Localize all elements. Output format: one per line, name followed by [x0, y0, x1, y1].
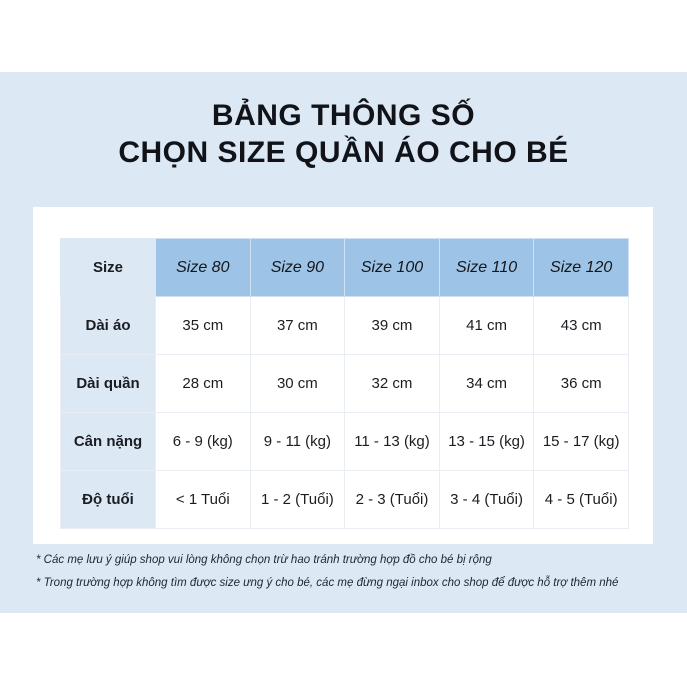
row-label-can-nang: Cân nặng: [61, 413, 156, 471]
cell-do-tuoi-size-120: 4 - 5 (Tuổi): [534, 471, 629, 529]
cell-can-nang-size-120: 15 - 17 (kg): [534, 413, 629, 471]
cell-dai-ao-size-120: 43 cm: [534, 297, 629, 355]
table-wrapper: Size Size 80 Size 90 Size 100 Size 110 S…: [60, 238, 628, 529]
cell-dai-ao-size-110: 41 cm: [439, 297, 534, 355]
footnotes: * Các mẹ lưu ý giúp shop vui lòng không …: [36, 554, 656, 600]
column-header-size-100: Size 100: [345, 239, 440, 297]
cell-do-tuoi-size-80: < 1 Tuổi: [156, 471, 251, 529]
cell-do-tuoi-size-100: 2 - 3 (Tuổi): [345, 471, 440, 529]
page-title: BẢNG THÔNG SỐ CHỌN SIZE QUẦN ÁO CHO BÉ: [0, 98, 687, 171]
table-card: Size Size 80 Size 90 Size 100 Size 110 S…: [33, 207, 653, 544]
cell-dai-quan-size-110: 34 cm: [439, 355, 534, 413]
column-header-size-110: Size 110: [439, 239, 534, 297]
size-chart-page: BẢNG THÔNG SỐ CHỌN SIZE QUẦN ÁO CHO BÉ S…: [0, 0, 687, 687]
cell-dai-quan-size-100: 32 cm: [345, 355, 440, 413]
cell-dai-quan-size-80: 28 cm: [156, 355, 251, 413]
cell-can-nang-size-80: 6 - 9 (kg): [156, 413, 251, 471]
title-line-1: BẢNG THÔNG SỐ: [0, 98, 687, 135]
cell-dai-quan-size-120: 36 cm: [534, 355, 629, 413]
cell-dai-ao-size-80: 35 cm: [156, 297, 251, 355]
row-label-dai-quan: Dài quần: [61, 355, 156, 413]
row-label-do-tuoi: Độ tuổi: [61, 471, 156, 529]
header-corner-label: Size: [61, 239, 156, 297]
column-header-size-120: Size 120: [534, 239, 629, 297]
table-row: Độ tuổi < 1 Tuổi 1 - 2 (Tuổi) 2 - 3 (Tuổ…: [61, 471, 629, 529]
table-row: Cân nặng 6 - 9 (kg) 9 - 11 (kg) 11 - 13 …: [61, 413, 629, 471]
column-header-size-80: Size 80: [156, 239, 251, 297]
size-chart-table: Size Size 80 Size 90 Size 100 Size 110 S…: [60, 238, 629, 529]
cell-do-tuoi-size-90: 1 - 2 (Tuổi): [250, 471, 345, 529]
title-line-2: CHỌN SIZE QUẦN ÁO CHO BÉ: [0, 135, 687, 172]
table-row: Dài áo 35 cm 37 cm 39 cm 41 cm 43 cm: [61, 297, 629, 355]
column-header-size-90: Size 90: [250, 239, 345, 297]
table-row: Dài quần 28 cm 30 cm 32 cm 34 cm 36 cm: [61, 355, 629, 413]
cell-dai-ao-size-100: 39 cm: [345, 297, 440, 355]
cell-dai-quan-size-90: 30 cm: [250, 355, 345, 413]
footnote-1: * Các mẹ lưu ý giúp shop vui lòng không …: [36, 554, 656, 568]
cell-can-nang-size-100: 11 - 13 (kg): [345, 413, 440, 471]
cell-dai-ao-size-90: 37 cm: [250, 297, 345, 355]
cell-can-nang-size-110: 13 - 15 (kg): [439, 413, 534, 471]
cell-do-tuoi-size-110: 3 - 4 (Tuổi): [439, 471, 534, 529]
table-header-row: Size Size 80 Size 90 Size 100 Size 110 S…: [61, 239, 629, 297]
footnote-2: * Trong trường hợp không tìm được size ư…: [36, 577, 656, 591]
row-label-dai-ao: Dài áo: [61, 297, 156, 355]
cell-can-nang-size-90: 9 - 11 (kg): [250, 413, 345, 471]
